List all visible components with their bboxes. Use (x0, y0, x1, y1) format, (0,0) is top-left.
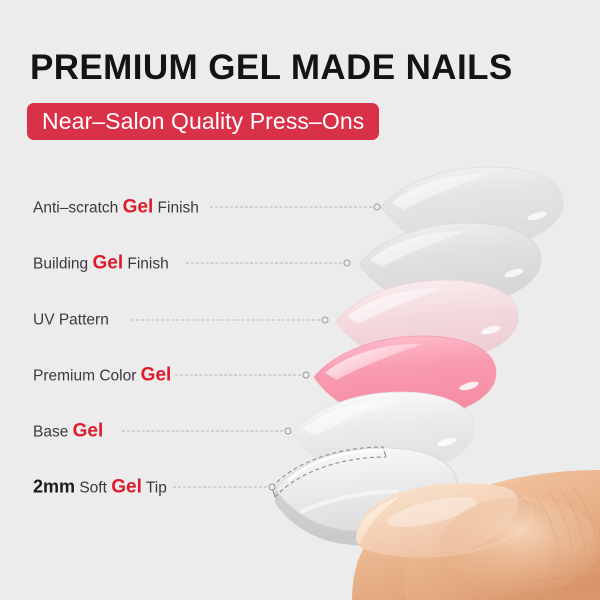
leader-line-uv-pattern (131, 320, 325, 321)
layer-label-gel-word: Gel (73, 421, 104, 442)
leader-endpoint-premium-color-gel (303, 372, 310, 379)
layer-label-text: Anti–scratch (33, 200, 123, 217)
leader-endpoint-soft-gel-tip (269, 484, 276, 491)
layer-label-thickness: 2mm (33, 477, 75, 497)
layer-label-suffix: Tip (142, 480, 167, 497)
layer-label-uv-pattern: UV Pattern (33, 312, 109, 328)
layer-label-text: Premium Color (33, 368, 141, 385)
layer-label-building-gel-finish: Building Gel Finish (33, 254, 169, 273)
leader-line-base-gel (122, 431, 288, 432)
leader-endpoint-anti-scratch-gel-finish (374, 204, 381, 211)
leader-endpoint-uv-pattern (322, 317, 329, 324)
layer-label-soft-gel-tip: 2mm Soft Gel Tip (33, 478, 167, 497)
leader-line-soft-gel-tip (173, 487, 272, 488)
leader-line-premium-color-gel (175, 375, 306, 376)
layer-label-text: Building (33, 256, 92, 273)
leader-endpoint-base-gel (285, 428, 292, 435)
leader-endpoint-building-gel-finish (344, 260, 351, 267)
layer-label-premium-color-gel: Premium Color Gel (33, 366, 171, 385)
layer-label-text: UV Pattern (33, 311, 109, 328)
nail-layer-illustration (0, 0, 600, 600)
layer-label-base-gel: Base Gel (33, 422, 103, 441)
layer-label-text: Soft (75, 480, 111, 497)
layer-label-gel-word: Gel (92, 253, 123, 274)
leader-line-anti-scratch-gel-finish (210, 207, 377, 208)
infographic-canvas: PREMIUM GEL MADE NAILS Near–Salon Qualit… (0, 0, 600, 600)
layer-label-suffix: Finish (153, 200, 199, 217)
layer-label-text: Base (33, 424, 73, 441)
layer-label-gel-word: Gel (123, 197, 154, 218)
layer-label-anti-scratch-gel-finish: Anti–scratch Gel Finish (33, 198, 199, 217)
layer-label-gel-word: Gel (111, 477, 142, 498)
leader-line-building-gel-finish (186, 263, 347, 264)
layer-label-gel-word: Gel (141, 365, 172, 386)
layer-label-suffix: Finish (123, 256, 169, 273)
